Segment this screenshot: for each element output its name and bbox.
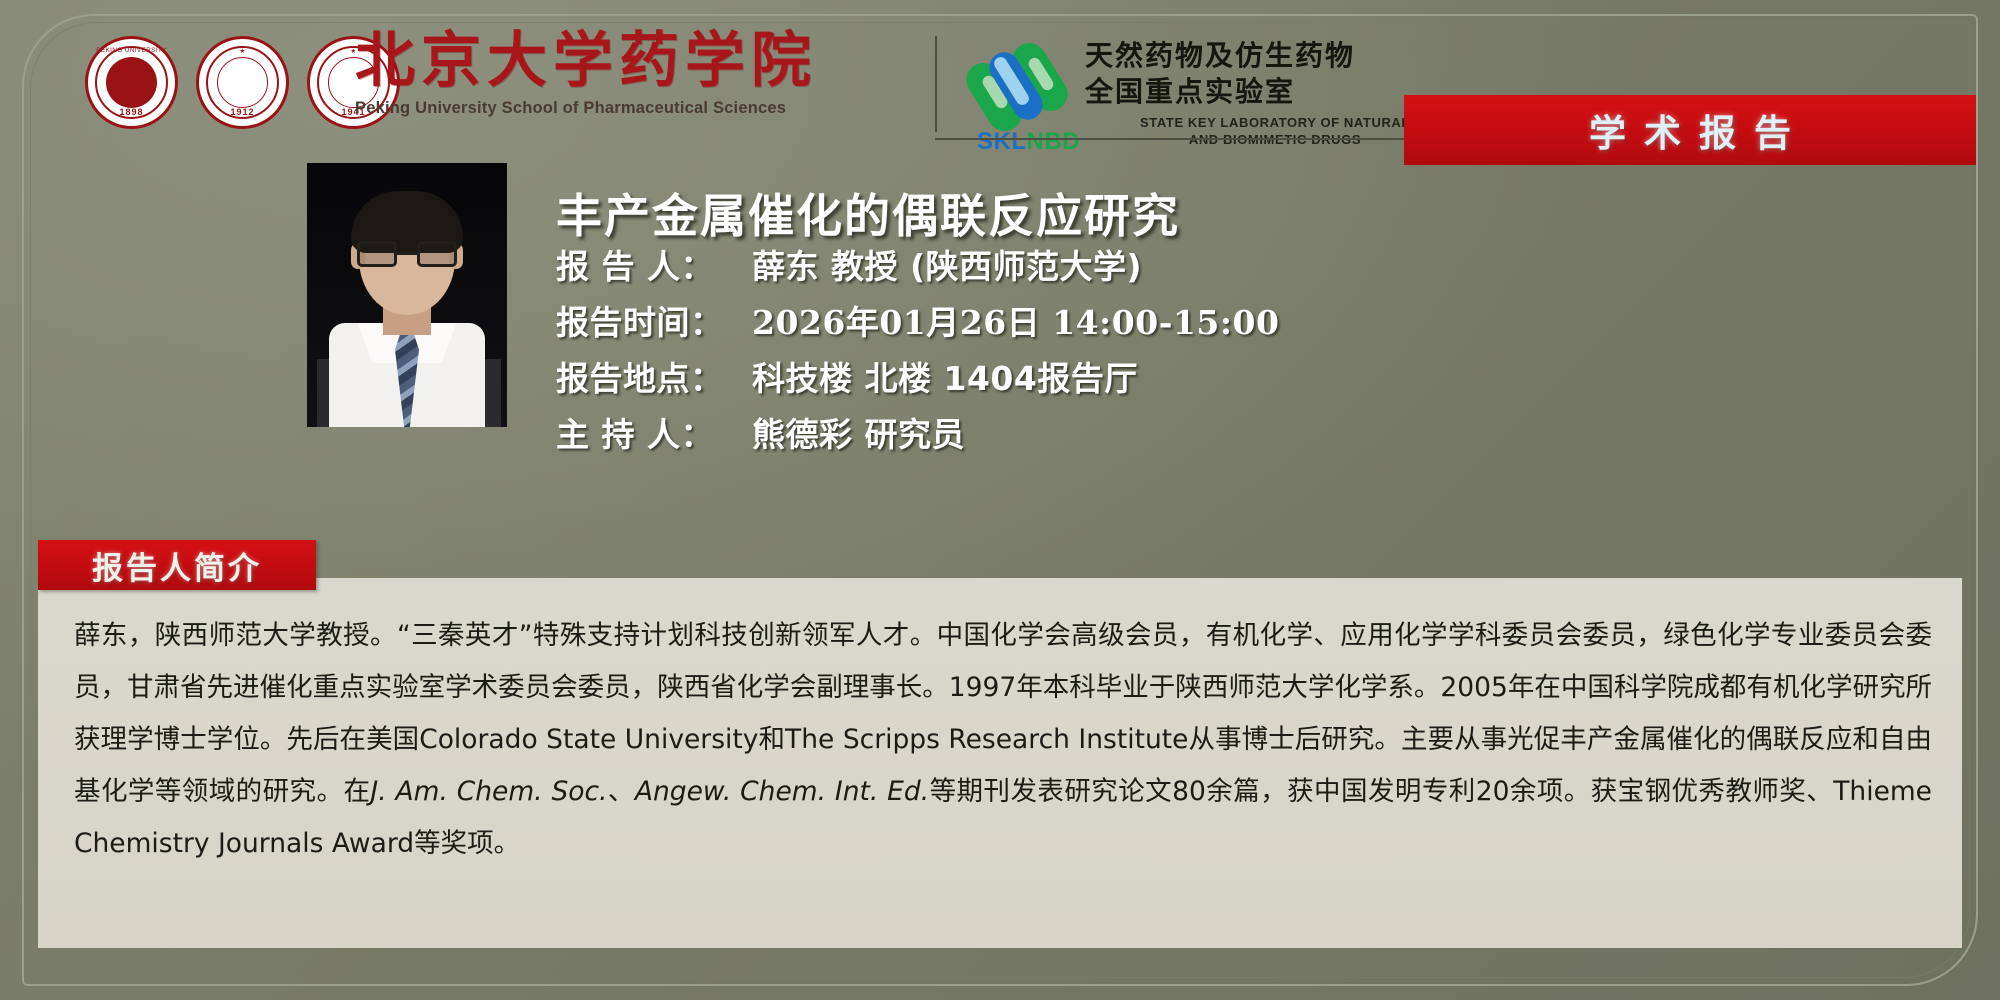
glasses-lens-right <box>417 241 457 267</box>
speaker-bio-panel: 薛东，陕西师范大学教授。“三秦英才”特殊支持计划科技创新领军人才。中国化学会高级… <box>38 578 1962 948</box>
university-seals: PEKING UNIVERSITY 1898 ★ 1912 ★ 1941 <box>85 36 400 129</box>
bio-text-run: 、 <box>607 776 634 807</box>
info-row-time: 报告时间： 2026年01月26日 14:00-15:00 <box>556 296 1856 340</box>
seal-year: 1898 <box>88 107 175 117</box>
info-label-time: 报告时间： <box>556 296 752 344</box>
header-vertical-divider <box>935 36 937 132</box>
talk-info-list: 报 告 人： 薛东 教授 (陕西师范大学) 报告时间： 2026年01月26日 … <box>556 240 1856 464</box>
acronym-nbd: NBD <box>1027 128 1081 155</box>
talk-title: 丰产金属催化的偶联反应研究 <box>556 180 1806 246</box>
info-value-location: 科技楼 北楼 1404报告厅 <box>752 352 1138 400</box>
info-value-speaker: 薛东 教授 (陕西师范大学) <box>752 240 1142 288</box>
speaker-portrait <box>307 163 507 427</box>
info-row-host: 主 持 人： 熊德彩 研究员 <box>556 408 1856 452</box>
speaker-bio-badge: 报告人简介 <box>38 540 316 590</box>
sklnbd-acronym: SKLNBD <box>977 128 1080 156</box>
portrait-glasses-icon <box>357 241 457 267</box>
organization-logo-text: 北京大学药学院 Peking University School of Phar… <box>355 30 725 118</box>
lab-name-cn-line1: 天然药物及仿生药物 <box>1085 38 1465 74</box>
bio-badge-label: 报告人简介 <box>92 543 262 588</box>
info-value-time: 2026年01月26日 14:00-15:00 <box>752 296 1279 344</box>
seminar-poster: PEKING UNIVERSITY 1898 ★ 1912 ★ 1941 北京大… <box>0 0 2000 1000</box>
poster-header: PEKING UNIVERSITY 1898 ★ 1912 ★ 1941 北京大… <box>0 0 2000 175</box>
bio-journal-name: Angew. Chem. Int. Ed. <box>635 776 929 807</box>
seal-rim-text: ★ <box>199 47 286 55</box>
peking-university-seal: PEKING UNIVERSITY 1898 <box>85 36 178 129</box>
organization-name-cn: 北京大学药学院 <box>355 30 725 93</box>
pku-health-science-center-seal: ★ 1912 <box>196 36 289 129</box>
glasses-lens-left <box>357 241 397 267</box>
speaker-bio-text: 薛东，陕西师范大学教授。“三秦英才”特殊支持计划科技创新领军人才。中国化学会高级… <box>74 610 1932 870</box>
seal-year: 1912 <box>199 107 286 117</box>
info-value-host: 熊德彩 研究员 <box>752 408 965 456</box>
academic-lecture-banner: 学术报告 <box>1404 95 1976 165</box>
info-row-speaker: 报 告 人： 薛东 教授 (陕西师范大学) <box>556 240 1856 284</box>
info-row-location: 报告地点： 科技楼 北楼 1404报告厅 <box>556 352 1856 396</box>
seal-emblem <box>106 57 157 108</box>
info-label-speaker: 报 告 人： <box>556 240 752 288</box>
seal-rim-text: PEKING UNIVERSITY <box>88 47 175 54</box>
organization-name-en: Peking University School of Pharmaceutic… <box>355 99 725 118</box>
bio-journal-name: J. Am. Chem. Soc. <box>370 776 607 807</box>
banner-label: 学术报告 <box>1571 103 1809 157</box>
info-label-location: 报告地点： <box>556 352 752 400</box>
acronym-skl: SKL <box>977 128 1027 155</box>
glasses-bridge <box>397 252 417 255</box>
seal-emblem <box>217 57 268 108</box>
sklnbd-logo-icon: SKLNBD <box>965 40 1085 145</box>
info-label-host: 主 持 人： <box>556 408 752 456</box>
